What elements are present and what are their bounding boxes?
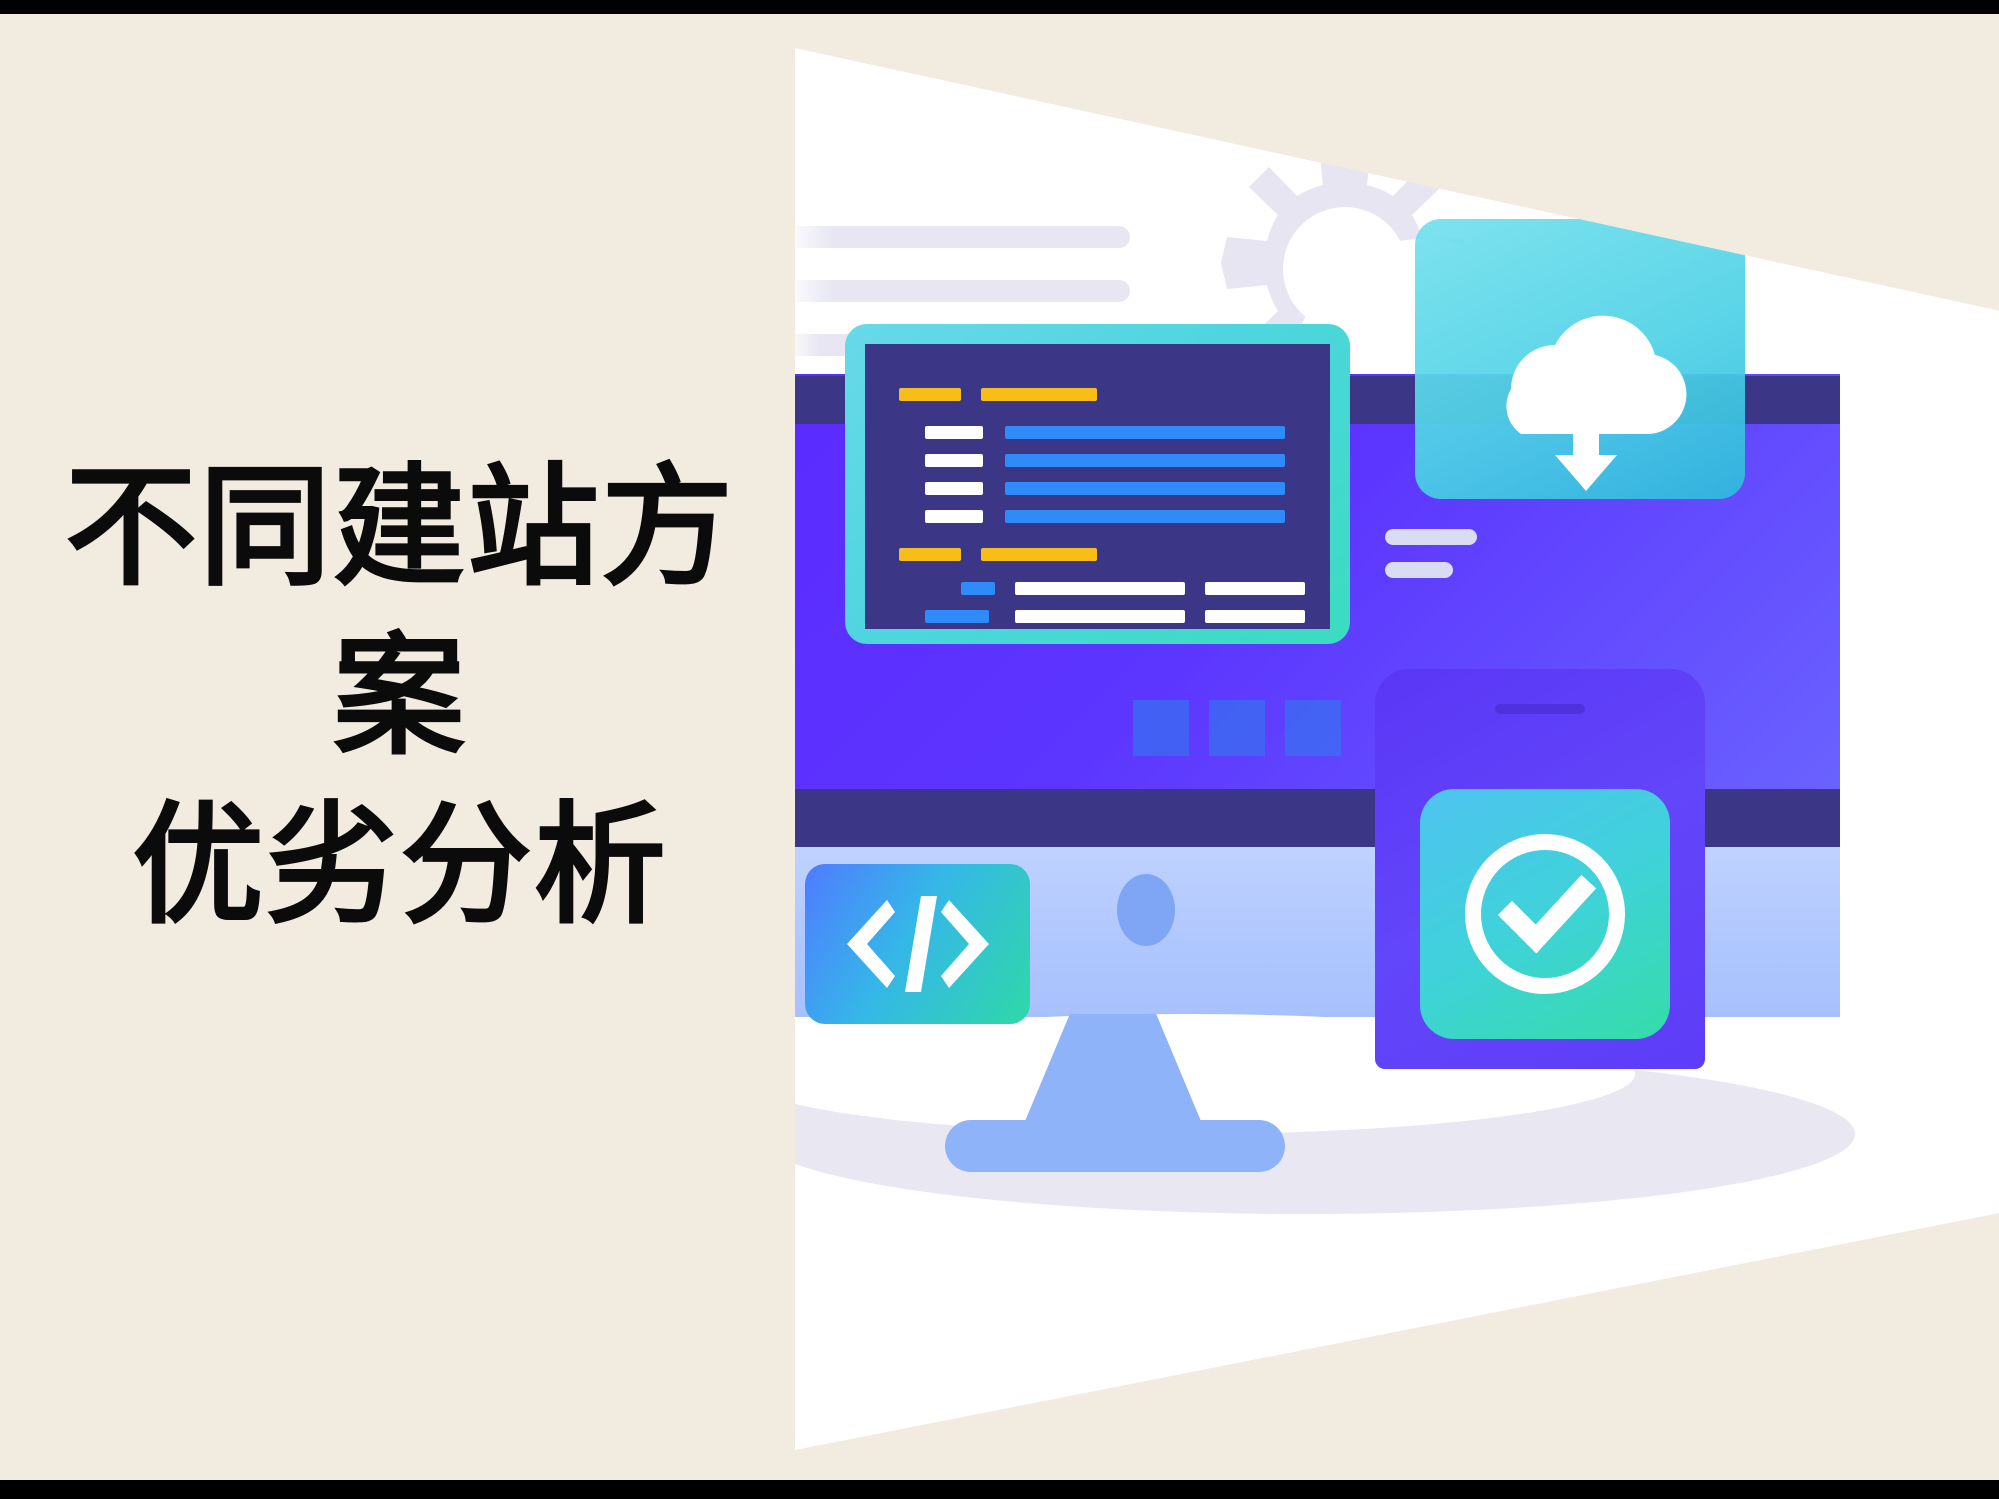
code-editor-screen bbox=[865, 344, 1330, 629]
code-line-segment bbox=[1005, 510, 1285, 523]
title-line-1: 不同建站方案 bbox=[0, 444, 800, 782]
decor-line-5 bbox=[1385, 562, 1453, 578]
code-line-segment bbox=[925, 510, 983, 523]
check-circle-icon bbox=[1456, 825, 1634, 1003]
top-letterbox-bar bbox=[0, 0, 1999, 14]
code-line-segment bbox=[1205, 582, 1305, 595]
page-title: 不同建站方案 优劣分析 bbox=[0, 444, 800, 951]
code-line-segment bbox=[925, 454, 983, 467]
code-brackets-card[interactable] bbox=[805, 864, 1030, 1024]
monitor-indicator-dot bbox=[1117, 874, 1175, 946]
title-panel: 不同建站方案 优劣分析 bbox=[0, 14, 800, 1480]
code-line-segment bbox=[1205, 610, 1305, 623]
monitor-foot bbox=[945, 1120, 1285, 1172]
monitor-square-2 bbox=[1209, 700, 1265, 756]
slide-root: 不同建站方案 优劣分析 bbox=[0, 0, 1999, 1499]
cloud-download-icon bbox=[1435, 259, 1735, 499]
code-brackets-icon bbox=[843, 890, 993, 998]
code-line-segment bbox=[925, 426, 983, 439]
decor-line-4 bbox=[1385, 529, 1477, 545]
monitor-square-1 bbox=[1133, 700, 1189, 756]
code-line-segment bbox=[981, 388, 1097, 401]
code-line-segment bbox=[925, 482, 983, 495]
monitor-square-3 bbox=[1285, 700, 1341, 756]
decor-line-2 bbox=[795, 280, 1130, 302]
check-circle-card[interactable] bbox=[1420, 789, 1670, 1039]
stage-wedge-bottom bbox=[795, 1182, 1999, 1480]
code-line-segment bbox=[961, 582, 995, 595]
code-line-segment bbox=[925, 610, 989, 623]
title-line-2: 优劣分析 bbox=[0, 782, 800, 951]
phone-speaker bbox=[1495, 704, 1585, 714]
bottom-letterbox-bar bbox=[0, 1480, 1999, 1499]
code-line-segment bbox=[899, 388, 961, 401]
code-line-segment bbox=[1015, 582, 1185, 595]
code-line-segment bbox=[899, 548, 961, 561]
code-line-segment bbox=[1015, 610, 1185, 623]
code-line-segment bbox=[981, 548, 1097, 561]
code-line-segment bbox=[1005, 482, 1285, 495]
decor-line-1 bbox=[795, 226, 1130, 248]
illustration-stage bbox=[795, 14, 1999, 1480]
code-line-segment bbox=[1005, 426, 1285, 439]
code-line-segment bbox=[1005, 454, 1285, 467]
